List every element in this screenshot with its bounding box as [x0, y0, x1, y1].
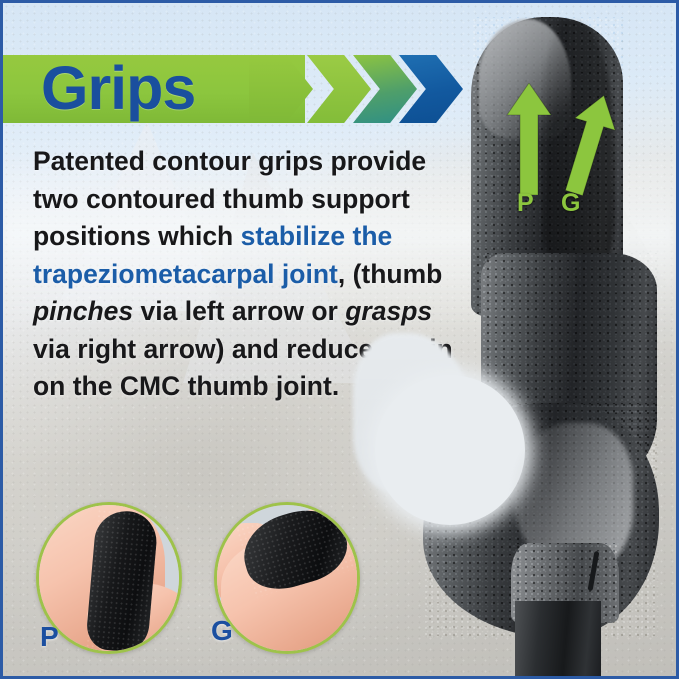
inset-label-grasp: G — [211, 615, 233, 647]
copy-line-4-highlight: stabilize the — [241, 221, 393, 251]
chevron-1-icon — [249, 55, 313, 123]
page-title: Grips — [41, 53, 195, 123]
copy-line-5-highlight: trapeziometacarpal joint — [33, 259, 338, 289]
copy-line-9: CMC thumb joint. — [120, 371, 339, 401]
product-feature-poster: Grips Patented contour grips provide two… — [0, 0, 679, 679]
copy-line-1: Patented contour grips — [33, 146, 323, 176]
cane-grip-photo: P G — [393, 3, 679, 679]
copy-line-7-b: via right arrow) — [33, 334, 224, 364]
copy-line-6-b: via left arrow — [133, 296, 304, 326]
grip-in-hand-pinch — [85, 509, 159, 654]
copy-line-4-plain: which — [158, 221, 240, 251]
grasp-arrow-label: G — [561, 189, 580, 218]
pinch-arrow-label: P — [517, 189, 534, 218]
cane-shaft — [515, 601, 601, 679]
copy-line-7-a: or — [311, 296, 345, 326]
inset-label-pinch: P — [40, 621, 59, 653]
pinch-arrow-icon — [505, 83, 553, 195]
inset-photo-grasp — [214, 502, 360, 654]
copy-line-5-plain: , — [338, 259, 345, 289]
copy-line-6-emphasis: pinches — [33, 296, 133, 326]
hook-inner-cutout — [375, 375, 525, 525]
